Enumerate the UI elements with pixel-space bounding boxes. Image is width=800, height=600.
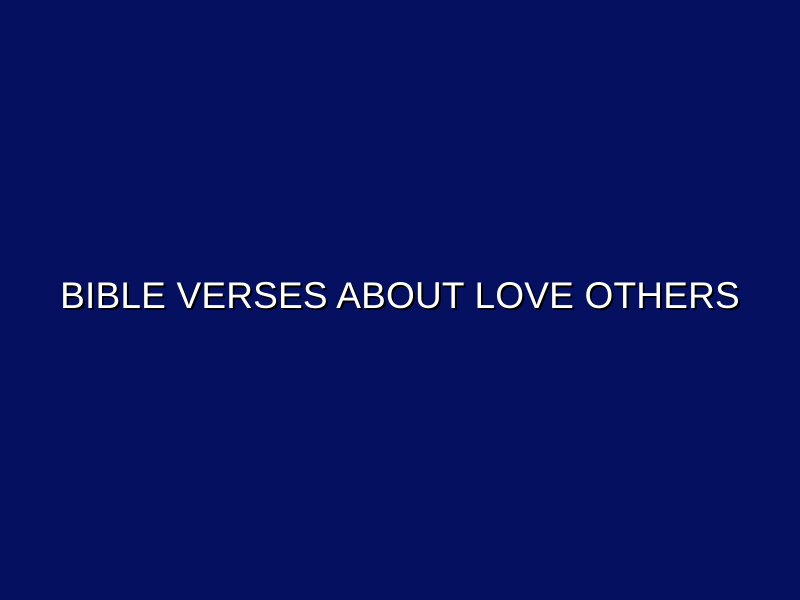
page-title: BIBLE VERSES ABOUT LOVE OTHERS [0,277,800,314]
title-card: BIBLE VERSES ABOUT LOVE OTHERS [0,0,800,600]
